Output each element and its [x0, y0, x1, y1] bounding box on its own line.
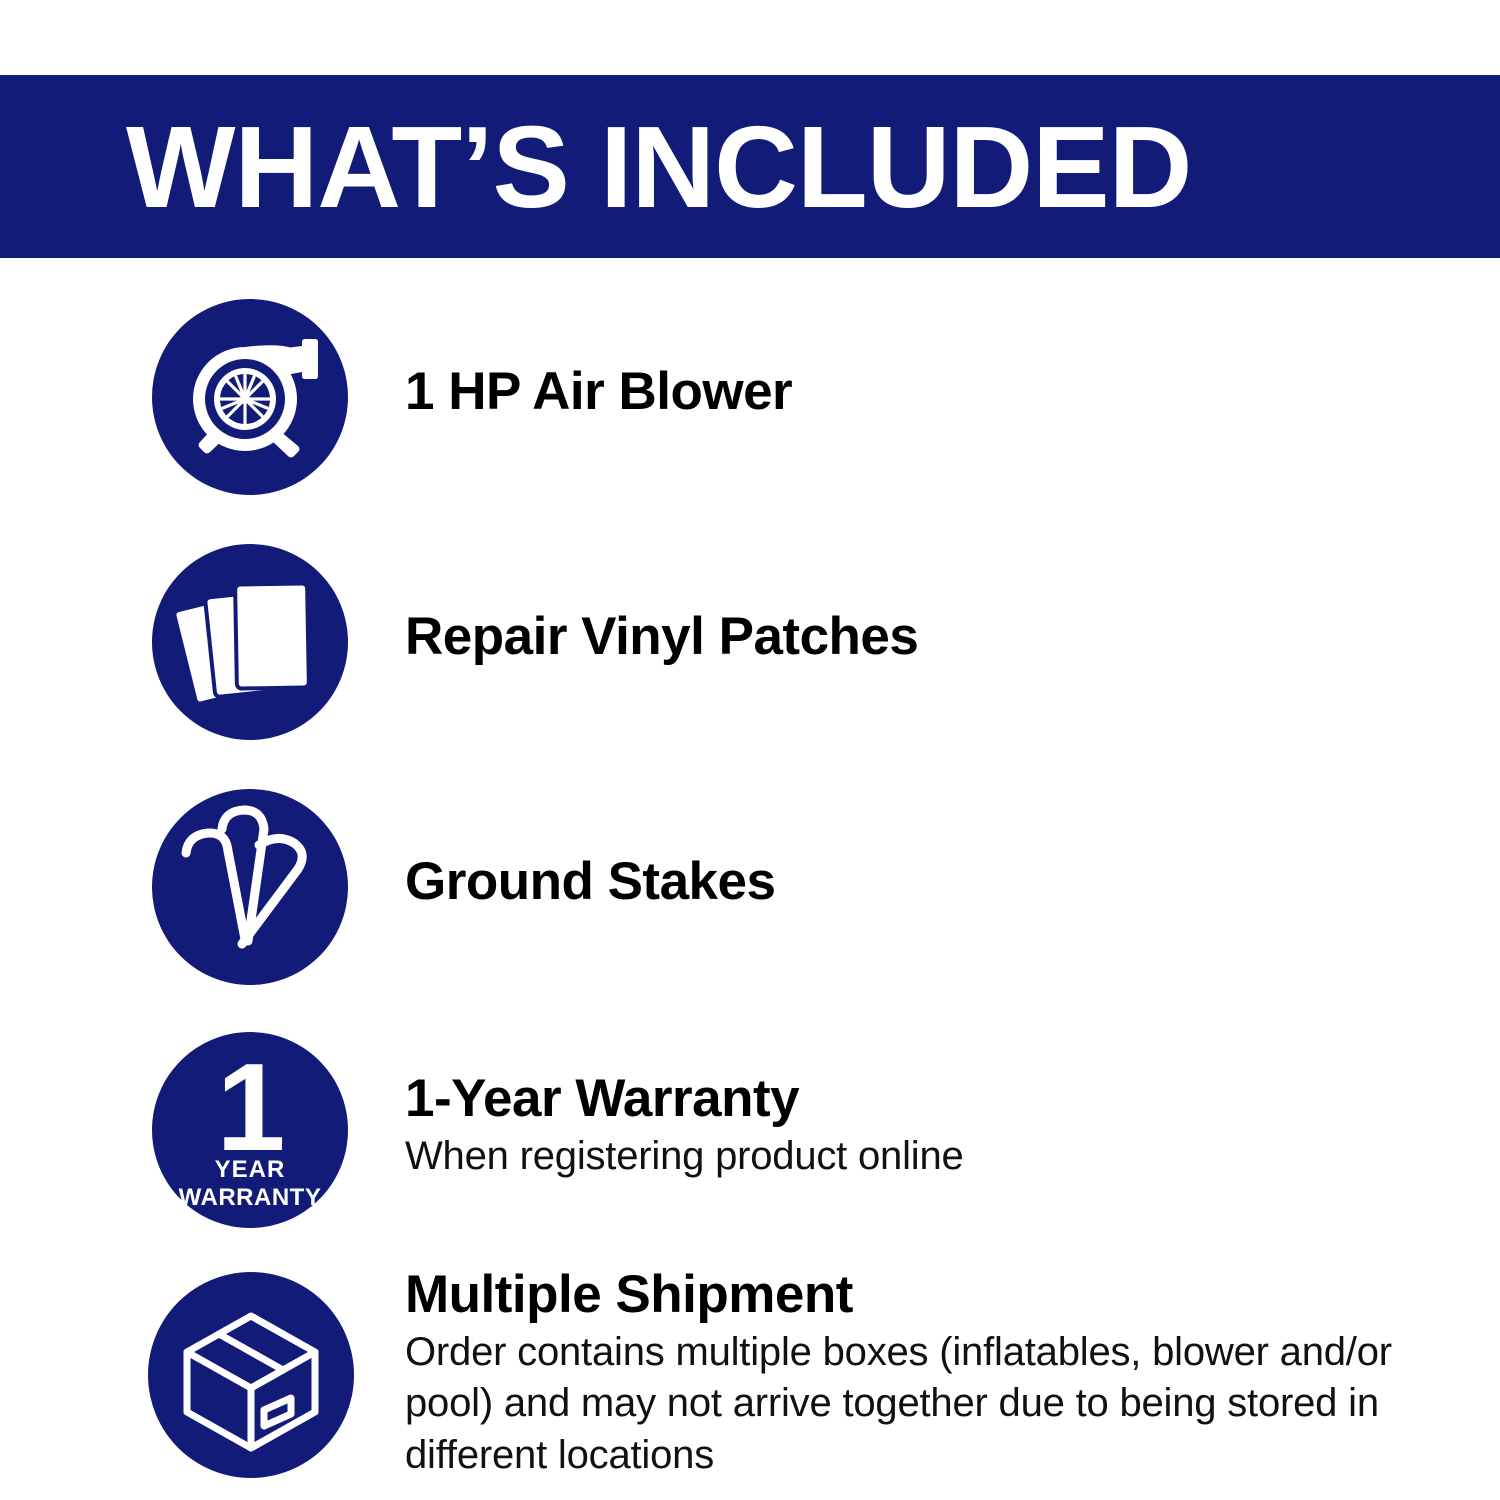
list-item-warranty: 1 YEAR WARRANTY 1-Year Warranty When reg… — [0, 1030, 1500, 1230]
whats-included-infographic: WHAT’S INCLUDED — [0, 0, 1500, 1500]
warranty-word-label: WARRANTY — [152, 1186, 348, 1210]
list-item-ground-stakes: Ground Stakes — [0, 787, 1500, 987]
item-title: Multiple Shipment — [405, 1266, 1465, 1323]
icon-circle — [152, 299, 348, 495]
icon-circle — [152, 789, 348, 985]
shipping-box-icon — [148, 1272, 354, 1478]
list-item-vinyl-patches: Repair Vinyl Patches — [0, 542, 1500, 742]
item-title: 1 HP Air Blower — [405, 363, 1465, 420]
icon-circle — [152, 544, 348, 740]
warranty-number: 1 — [152, 1046, 348, 1170]
shipping-box-icon-wrap — [148, 1272, 354, 1478]
item-title: 1-Year Warranty — [405, 1070, 1465, 1127]
vinyl-patches-icon — [152, 544, 348, 740]
icon-circle — [148, 1272, 354, 1478]
header-banner: WHAT’S INCLUDED — [0, 75, 1500, 258]
item-subtitle: When registering product online — [405, 1131, 1465, 1182]
multiple-shipment-text: Multiple Shipment Order contains multipl… — [405, 1266, 1465, 1481]
ground-stakes-text: Ground Stakes — [405, 853, 1465, 910]
list-item-multiple-shipment: Multiple Shipment Order contains multipl… — [0, 1266, 1500, 1476]
warranty-badge-icon: 1 YEAR WARRANTY — [152, 1032, 348, 1228]
warranty-year-label: YEAR — [152, 1158, 348, 1182]
page-title: WHAT’S INCLUDED — [126, 109, 1191, 225]
vinyl-patches-text: Repair Vinyl Patches — [405, 608, 1465, 665]
item-subtitle: Order contains multiple boxes (inflatabl… — [405, 1327, 1465, 1481]
ground-stakes-icon-wrap — [152, 789, 348, 985]
vinyl-patches-icon-wrap — [152, 544, 348, 740]
item-title: Ground Stakes — [405, 853, 1465, 910]
air-blower-icon — [152, 299, 348, 495]
item-title: Repair Vinyl Patches — [405, 608, 1465, 665]
warranty-icon-wrap: 1 YEAR WARRANTY — [152, 1032, 348, 1228]
air-blower-icon-wrap — [152, 299, 348, 495]
air-blower-text: 1 HP Air Blower — [405, 363, 1465, 420]
ground-stakes-icon — [152, 789, 348, 985]
warranty-text: 1-Year Warranty When registering product… — [405, 1070, 1465, 1182]
list-item-air-blower: 1 HP Air Blower — [0, 297, 1500, 497]
